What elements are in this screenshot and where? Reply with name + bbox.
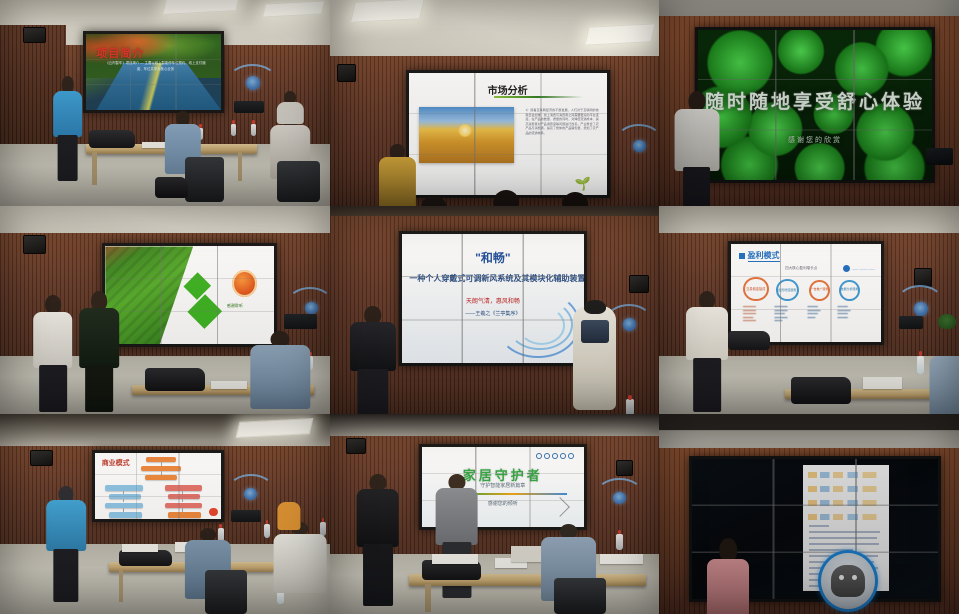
video-wall[interactable]: "和畅" 一种个人穿戴式可调新风系统及其模块化辅助装置 天朗气清，惠风和畅 ——… xyxy=(399,231,587,366)
slide-photo xyxy=(419,107,514,163)
profit-label-4: 数据分析服务 xyxy=(840,287,860,291)
slide-heading: 一种个人穿戴式可调新风系统及其模块化辅助装置 xyxy=(409,273,576,284)
paper-stack xyxy=(211,381,247,389)
sun-icon xyxy=(458,124,471,137)
laptop-bag xyxy=(119,550,172,566)
water-bottle xyxy=(626,399,634,414)
photo-cell-7[interactable]: 商业模式 xyxy=(0,414,330,614)
video-wall[interactable]: 商业模式 xyxy=(92,450,224,522)
robot-face-icon xyxy=(831,565,864,597)
paper-stack xyxy=(600,554,643,564)
desk-monitor xyxy=(284,314,317,329)
person-presenter xyxy=(53,76,83,181)
slide-quote-attribution: ——王羲之《兰亭集序》 xyxy=(402,310,584,317)
person-judge xyxy=(274,522,327,606)
room-scene-7: 商业模式 xyxy=(0,414,330,614)
room-scene-5: "和畅" 一种个人穿戴式可调新风系统及其模块化辅助装置 天朗气清，惠风和畅 ——… xyxy=(330,206,659,414)
video-wall[interactable]: 盈利模式 四大核心盈利增长点 ____ _____ ____ 交易佣金抽成 会员… xyxy=(728,241,884,345)
slide-project-intro: 项目简介 《云内智车》项目简介 — 主要以线上智能停车位预约、线上支付缴费、车位… xyxy=(86,34,222,110)
flow-node xyxy=(109,494,141,499)
room-scene-2: 市场分析 1）随着互联网经济的不断发展，人们对于互联网的依赖日益加重，线上消费与… xyxy=(330,0,659,206)
slide-title: 盈利模式 xyxy=(748,250,780,262)
paper-stack xyxy=(122,544,158,552)
laptop-bag xyxy=(145,368,204,391)
backpack xyxy=(155,177,188,198)
person-presenter xyxy=(707,538,749,614)
room-scene-3: 随时随地享受舒心体验 感谢您的欣赏 xyxy=(659,0,959,206)
flow-node xyxy=(165,485,203,491)
icon-diagram xyxy=(808,472,884,520)
flow-node xyxy=(105,485,143,491)
water-bottle xyxy=(231,124,236,136)
profit-body-2: ▬▬▬▬▬▬▬▬▬▬▬▬▬▬▬▬▬▬▬▬▬▬ xyxy=(775,305,799,323)
profit-label-1: 交易佣金抽成 xyxy=(745,286,768,291)
wall-speaker xyxy=(30,450,53,466)
wall-speaker xyxy=(616,460,632,476)
person-presenter xyxy=(379,144,415,206)
laptop-bag xyxy=(728,331,770,350)
slide-title: 市场分析 xyxy=(409,82,607,97)
photo-cell-1[interactable]: 项目简介 《云内智车》项目简介 — 主要以线上智能停车位预约、线上支付缴费、车位… xyxy=(0,0,330,206)
flow-node xyxy=(105,503,143,509)
icon-row xyxy=(536,453,574,459)
room-scene-4: 感谢聆听 xyxy=(0,206,330,414)
ceiling-light xyxy=(350,0,425,22)
person-presenter xyxy=(33,295,73,411)
office-chair xyxy=(205,570,248,614)
wearable-device-icon xyxy=(581,320,608,343)
room-scene-1: 项目简介 《云内智车》项目简介 — 主要以线上智能停车位预约、线上支付缴费、车位… xyxy=(0,0,330,206)
profit-body-4: ▬▬▬▬▬▬▬▬▬▬▬▬▬▬▬▬▬ xyxy=(838,305,861,319)
slide-market-analysis: 市场分析 1）随着互联网经济的不断发展，人们对于互联网的依赖日益加重，线上消费与… xyxy=(409,73,607,195)
photo-grid: 项目简介 《云内智车》项目简介 — 主要以线上智能停车位预约、线上支付缴费、车位… xyxy=(0,0,959,614)
green-diamond-icon xyxy=(188,295,222,329)
profit-label-2: 会员增值服务 xyxy=(778,287,798,292)
slide-subtitle: 感谢您的欣赏 xyxy=(698,135,932,145)
water-bottle xyxy=(264,524,270,538)
flow-node xyxy=(165,503,203,509)
org-logo-icon xyxy=(843,265,850,272)
flow-node xyxy=(109,512,142,517)
wall-speaker xyxy=(337,64,357,83)
person-presenter xyxy=(46,486,86,602)
person-presenter xyxy=(686,291,728,412)
office-chair xyxy=(185,157,225,202)
slide-title: 商业模式 xyxy=(102,458,130,468)
slide-title: 项目简介 xyxy=(96,45,144,61)
video-wall[interactable]: 随时随地享受舒心体验 感谢您的欣赏 xyxy=(695,27,935,184)
person-audience xyxy=(416,196,452,206)
flow-node xyxy=(168,494,200,499)
slide-body-text: 《云内智车》项目简介 — 主要以线上智能停车位预约、线上支付缴费、车位共享为核心… xyxy=(103,61,208,71)
bullet-icon xyxy=(739,253,745,259)
photo-cell-3[interactable]: 随时随地享受舒心体验 感谢您的欣赏 xyxy=(659,0,959,206)
water-bottle xyxy=(917,356,924,375)
slide-body-text: 1）随着互联网经济的不断发展，人们对于互联网的依赖日益加重，线上消费与消费者之间… xyxy=(525,108,598,135)
video-wall[interactable]: 项目简介 《云内智车》项目简介 — 主要以线上智能停车位预约、线上支付缴费、车位… xyxy=(83,31,225,113)
emblem-arc-icon xyxy=(228,474,274,506)
person-presenter xyxy=(79,291,119,412)
desk-monitor xyxy=(899,316,923,328)
water-bottle xyxy=(251,124,256,136)
photo-cell-5[interactable]: "和畅" 一种个人穿戴式可调新风系统及其模块化辅助装置 天朗气清，惠风和畅 ——… xyxy=(330,206,659,414)
photo-cell-8[interactable]: 家居守护者 守护智能家居新篇章 感谢您的倾听 xyxy=(330,414,659,614)
desk-monitor xyxy=(231,510,261,522)
wall-speaker xyxy=(629,275,649,294)
slide-title: "和畅" xyxy=(402,249,584,266)
photo-cell-9[interactable] xyxy=(659,414,959,614)
office-chair xyxy=(277,161,320,202)
person-audience xyxy=(485,190,528,206)
water-bottle xyxy=(616,534,623,550)
paper-stack xyxy=(863,377,902,389)
desk-monitor xyxy=(234,101,264,113)
flow-node xyxy=(145,475,178,480)
video-wall[interactable]: 市场分析 1）随着互联网经济的不断发展，人们对于互联网的依赖日益加重，线上消费与… xyxy=(406,70,610,198)
laptop-bag xyxy=(791,377,851,404)
slide-rule xyxy=(494,96,583,98)
room-scene-9 xyxy=(659,414,959,614)
person-presenter xyxy=(356,474,399,606)
desk-monitor xyxy=(926,148,953,164)
person-presenter xyxy=(674,91,719,206)
slide-hechang: "和畅" 一种个人穿戴式可调新风系统及其模块化辅助装置 天朗气清，惠风和畅 ——… xyxy=(402,234,584,363)
flow-node xyxy=(168,512,201,517)
slide-agriculture: 感谢聆听 xyxy=(105,246,274,344)
slide-business-model: 商业模式 xyxy=(95,453,221,519)
wall-speaker xyxy=(23,27,46,43)
ceiling xyxy=(659,414,959,452)
room-scene-8: 家居守护者 守护智能家居新篇章 感谢您的倾听 xyxy=(330,414,659,614)
emblem-arc-icon xyxy=(228,64,278,97)
person-audience xyxy=(554,192,597,206)
brand-logo-icon xyxy=(232,270,257,297)
slide-title: 随时随地享受舒心体验 xyxy=(698,87,932,114)
robot-avatar-badge[interactable] xyxy=(818,550,878,612)
office-chair xyxy=(554,578,607,614)
person-hazmat-demonstrator xyxy=(573,306,616,410)
slide-profit-model: 盈利模式 四大核心盈利增长点 ____ _____ ____ 交易佣金抽成 会员… xyxy=(731,244,881,342)
slide-subheading: 四大核心盈利增长点 xyxy=(785,266,817,271)
room-scene-6: 盈利模式 四大核心盈利增长点 ____ _____ ____ 交易佣金抽成 会员… xyxy=(659,206,959,414)
laptop-bag xyxy=(89,130,135,149)
slide-quote: 天朗气清，惠风和畅 xyxy=(402,296,584,305)
slide-subtitle: 感谢聆听 xyxy=(227,303,243,309)
profit-label-3: 广告推广服务 xyxy=(810,287,830,291)
hazmat-hood-icon xyxy=(584,300,606,315)
person-judge xyxy=(251,331,310,414)
slide-clover: 随时随地享受舒心体验 感谢您的欣赏 xyxy=(698,30,932,181)
photo-cell-6[interactable]: 盈利模式 四大核心盈利增长点 ____ _____ ____ 交易佣金抽成 会员… xyxy=(659,206,959,414)
person-audience xyxy=(277,91,303,124)
profit-body-3: ▬▬▬▬▬▬▬▬▬▬▬▬▬▬▬▬ xyxy=(808,305,831,319)
person-audience xyxy=(277,502,300,530)
person-judge xyxy=(929,356,959,414)
potted-plant xyxy=(938,314,956,329)
emblem-arc-icon xyxy=(616,124,659,157)
person-presenter xyxy=(350,306,396,414)
red-dot-icon xyxy=(209,508,218,517)
sprout-icon: 🌱 xyxy=(575,177,591,190)
ceiling-light xyxy=(584,23,655,45)
profit-body-1: ▬▬▬▬▬▬▬▬▬▬▬▬▬▬▬▬▬▬▬▬▬▬▬▬ xyxy=(743,305,769,323)
photo-cell-4[interactable]: 感谢聆听 xyxy=(0,206,330,414)
device-box xyxy=(511,546,544,562)
emblem-arc-icon xyxy=(596,478,642,510)
wall-speaker xyxy=(23,235,46,254)
wall-speaker xyxy=(346,438,366,454)
photo-cell-2[interactable]: 市场分析 1）随着互联网经济的不断发展，人们对于互联网的依赖日益加重，线上消费与… xyxy=(330,0,659,206)
paper-stack xyxy=(432,554,478,564)
